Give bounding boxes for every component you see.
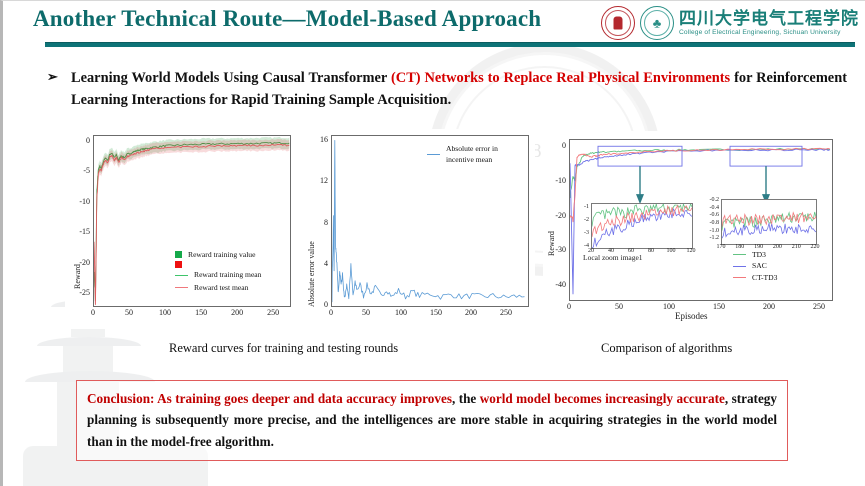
x-tick-label: 250 (809, 302, 829, 311)
inset-x-tick-label: 220 (807, 244, 823, 250)
slide-canvas: 1896 Another Technical Route—Model-Based… (0, 0, 865, 486)
y-tick-label: 16 (303, 135, 328, 144)
y-tick-label: 4 (303, 259, 328, 268)
fig2-ylabel: Absolute error value (307, 241, 316, 307)
legend-item: Reward test mean (175, 282, 261, 293)
figure-algorithm-comparison: Reward 0-10-20-30-40 050100150200250 Epi… (543, 131, 843, 336)
fig3-legend: TD3SACCT-TD3 (733, 249, 777, 283)
conclusion-box: Conclusion: As training goes deeper and … (76, 380, 788, 461)
inset-x-tick-label: 120 (683, 248, 699, 254)
inset-y-tick-label: -3 (574, 230, 589, 236)
inset-x-tick-label: 20 (583, 248, 599, 254)
logo-chinese-name: 四川大学电气工程学院 (679, 10, 859, 28)
page-title: Another Technical Route—Model-Based Appr… (33, 6, 541, 32)
inset-x-tick-label: 60 (623, 248, 639, 254)
conclusion-label: Conclusion: (87, 391, 157, 406)
x-tick-label: 0 (83, 308, 103, 317)
x-tick-label: 50 (119, 308, 139, 317)
y-tick-label: 0 (67, 136, 90, 145)
legend-item: Absolute error in incentive mean (427, 143, 508, 166)
inset-y-tick-label: -1 (574, 204, 589, 210)
y-tick-label: 0 (545, 141, 566, 150)
bullet-segment-1: Learning World Models Using Causal Trans… (71, 70, 391, 86)
x-tick-label: 50 (356, 308, 376, 317)
legend-item: Reward training mean (175, 269, 261, 280)
slide-header: Another Technical Route—Model-Based Appr… (3, 1, 865, 49)
bullet-segment-highlight: (CT) Networks to Replace Real Physical E… (391, 70, 730, 86)
y-tick-label: -10 (67, 197, 90, 206)
x-tick-label: 150 (709, 302, 729, 311)
y-tick-label: 12 (303, 176, 328, 185)
inset-x-tick-label: 210 (788, 244, 804, 250)
y-tick-label: 8 (303, 218, 328, 227)
sichuan-university-seal-icon (601, 6, 635, 40)
fig1-legend: Reward training valueReward training mea… (175, 249, 261, 294)
x-tick-label: 250 (263, 308, 283, 317)
inset-x-tick-label: 190 (751, 244, 767, 250)
inset-y-tick-label: -2 (574, 217, 589, 223)
inset-x-tick-label: 40 (603, 248, 619, 254)
y-tick-label: -20 (545, 211, 566, 220)
x-tick-label: 100 (155, 308, 175, 317)
inset-y-tick-label: -0.2 (704, 197, 719, 203)
inset-x-tick-label: 100 (663, 248, 679, 254)
inset-x-tick-label: 200 (769, 244, 785, 250)
x-tick-label: 100 (391, 308, 411, 317)
electrical-engineering-seal-icon: ♣ (640, 6, 674, 40)
figure-absolute-error: Absolute error value 0481216 05010015020… (299, 129, 535, 329)
y-tick-label: -5 (67, 166, 90, 175)
x-tick-label: 150 (191, 308, 211, 317)
x-tick-label: 100 (659, 302, 679, 311)
legend-label: Reward training value (188, 249, 255, 260)
legend-swatch (175, 275, 188, 276)
inset-plot-local-zoom-2 (721, 199, 817, 245)
caption-left: Reward curves for training and testing r… (169, 341, 398, 356)
legend-swatch (175, 261, 182, 268)
logo-english-name: College of Electrical Engineering, Sichu… (679, 29, 859, 36)
x-tick-label: 200 (461, 308, 481, 317)
y-tick-label: -30 (545, 245, 566, 254)
caption-right: Comparison of algorithms (601, 341, 732, 356)
x-tick-label: 200 (759, 302, 779, 311)
x-tick-label: 0 (321, 308, 341, 317)
legend-label: CT-TD3 (752, 272, 777, 283)
x-tick-label: 50 (609, 302, 629, 311)
legend-label: SAC (752, 260, 767, 271)
legend-item (175, 261, 261, 268)
logo-text-block: 四川大学电气工程学院 College of Electrical Enginee… (679, 10, 859, 36)
legend-item: TD3 (733, 249, 777, 260)
legend-item: CT-TD3 (733, 272, 777, 283)
conclusion-red-1: As training goes deeper and data accurac… (157, 391, 452, 406)
inset-plot-local-zoom-1 (591, 203, 693, 249)
legend-swatch (427, 154, 440, 155)
inset-x-tick-label: 80 (643, 248, 659, 254)
inset1-label: Local zoom image1 (583, 253, 643, 262)
figure-reward-curves: Reward 0-5-10-15-20-25 050100150200250 R… (65, 129, 295, 329)
y-tick-label: -10 (545, 176, 566, 185)
legend-label: Reward training mean (194, 269, 261, 280)
inset-y-tick-label: -0.8 (704, 220, 719, 226)
legend-item: Reward training value (175, 249, 261, 260)
institution-logo: ♣ 四川大学电气工程学院 College of Electrical Engin… (601, 3, 859, 43)
legend-swatch (733, 266, 746, 267)
x-tick-label: 0 (559, 302, 579, 311)
y-tick-label: -20 (67, 258, 90, 267)
legend-label: Reward test mean (194, 282, 248, 293)
fig1-ylabel: Reward (73, 264, 82, 289)
x-tick-label: 200 (227, 308, 247, 317)
inset-y-tick-label: -0.6 (704, 212, 719, 218)
legend-swatch (733, 254, 746, 255)
fig2-legend: Absolute error in incentive mean (427, 143, 508, 166)
y-tick-label: -25 (67, 288, 90, 297)
x-tick-label: 250 (496, 308, 516, 317)
inset-x-tick-label: 170 (713, 244, 729, 250)
legend-item: SAC (733, 260, 777, 271)
x-tick-label: 150 (426, 308, 446, 317)
legend-swatch (175, 251, 182, 258)
bullet-paragraph: ➢ Learning World Models Using Causal Tra… (47, 67, 847, 112)
legend-label: Absolute error in incentive mean (446, 143, 508, 166)
bullet-marker-icon: ➢ (47, 67, 58, 87)
y-tick-label: -15 (67, 227, 90, 236)
legend-label: TD3 (752, 249, 766, 260)
legend-swatch (733, 277, 746, 278)
fig3-xlabel: Episodes (675, 311, 708, 321)
legend-swatch (175, 287, 188, 288)
conclusion-red-2: world model becomes increasingly accurat… (480, 391, 725, 406)
conclusion-mid-1: , the (452, 391, 480, 406)
inset-y-tick-label: -1.0 (704, 228, 719, 234)
inset-y-tick-label: -1.2 (704, 235, 719, 241)
inset-x-tick-label: 180 (732, 244, 748, 250)
y-tick-label: -40 (545, 280, 566, 289)
inset-y-tick-label: -0.4 (704, 205, 719, 211)
